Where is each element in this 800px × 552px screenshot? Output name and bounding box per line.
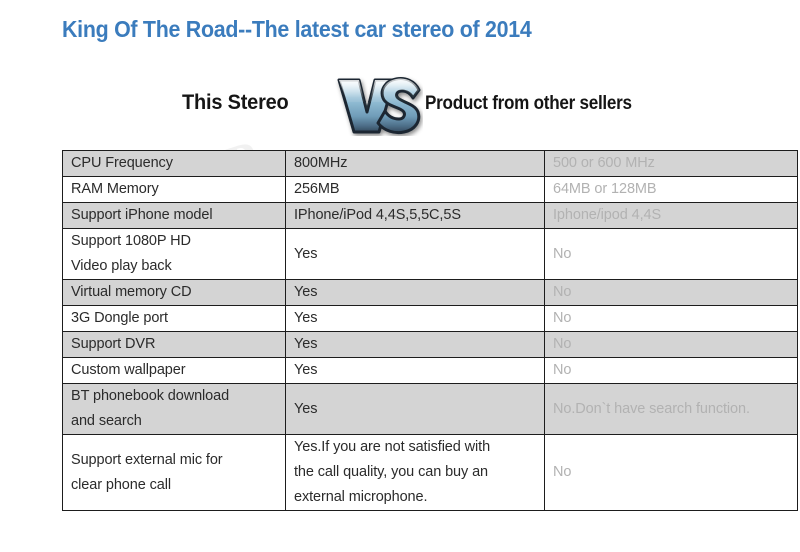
- feature-cell: BT phonebook download and search: [63, 384, 286, 435]
- theirs-value: No: [553, 358, 789, 383]
- theirs-value: No: [553, 280, 789, 305]
- theirs-cell: No: [545, 435, 798, 511]
- table-row: RAM Memory 256MB 64MB or 128MB: [63, 177, 798, 203]
- feature-label: RAM Memory: [71, 177, 277, 202]
- feature-label: Custom wallpaper: [71, 358, 277, 383]
- feature-cell: 3G Dongle port: [63, 306, 286, 332]
- ours-cell: Yes: [286, 229, 545, 280]
- feature-label: 3G Dongle port: [71, 306, 277, 331]
- ours-cell: Yes: [286, 306, 545, 332]
- feature-cell: Support DVR: [63, 332, 286, 358]
- table-row: Support DVR Yes No: [63, 332, 798, 358]
- comparison-header: This Stereo: [62, 76, 748, 134]
- feature-cell: Virtual memory CD: [63, 280, 286, 306]
- feature-label: Support DVR: [71, 332, 277, 357]
- table-row: 3G Dongle port Yes No: [63, 306, 798, 332]
- feature-label: Support external mic for: [71, 448, 277, 473]
- theirs-cell: No: [545, 229, 798, 280]
- feature-label-line2: and search: [71, 409, 277, 434]
- theirs-cell: Iphone/ipod 4,4S: [545, 203, 798, 229]
- theirs-value: No: [553, 306, 789, 331]
- feature-label: Support iPhone model: [71, 203, 277, 228]
- ours-cell: Yes: [286, 280, 545, 306]
- table-row: Custom wallpaper Yes No: [63, 358, 798, 384]
- ours-value: 800MHz: [294, 151, 536, 176]
- ours-cell: Yes: [286, 332, 545, 358]
- theirs-cell: No.Don`t have search function.: [545, 384, 798, 435]
- ours-value: Yes: [294, 306, 536, 331]
- feature-label-line2: clear phone call: [71, 473, 277, 498]
- table-row: Support external mic for clear phone cal…: [63, 435, 798, 511]
- ours-value-line3: external microphone.: [294, 485, 536, 510]
- ours-value: Yes: [294, 242, 536, 267]
- theirs-value: No: [553, 332, 789, 357]
- theirs-value: 500 or 600 MHz: [553, 151, 789, 176]
- ours-cell: 800MHz: [286, 151, 545, 177]
- feature-label: Support 1080P HD: [71, 229, 277, 254]
- ours-cell: Yes.If you are not satisfied with the ca…: [286, 435, 545, 511]
- theirs-cell: 500 or 600 MHz: [545, 151, 798, 177]
- comparison-table: CPU Frequency 800MHz 500 or 600 MHz RAM …: [62, 150, 798, 511]
- theirs-value: Iphone/ipod 4,4S: [553, 203, 789, 228]
- feature-cell: Custom wallpaper: [63, 358, 286, 384]
- ours-value: Yes: [294, 332, 536, 357]
- table-row: Support 1080P HD Video play back Yes No: [63, 229, 798, 280]
- feature-label: Virtual memory CD: [71, 280, 277, 305]
- feature-cell: Support iPhone model: [63, 203, 286, 229]
- table-row: BT phonebook download and search Yes No.…: [63, 384, 798, 435]
- theirs-value: 64MB or 128MB: [553, 177, 789, 202]
- ours-cell: Yes: [286, 384, 545, 435]
- feature-cell: Support 1080P HD Video play back: [63, 229, 286, 280]
- table-row: Virtual memory CD Yes No: [63, 280, 798, 306]
- theirs-cell: No: [545, 306, 798, 332]
- ours-value: Yes: [294, 358, 536, 383]
- this-stereo-label: This Stereo: [182, 91, 289, 115]
- theirs-value: No: [553, 242, 789, 267]
- theirs-value: No.Don`t have search function.: [553, 397, 789, 422]
- ours-value: Yes.If you are not satisfied with: [294, 435, 536, 460]
- ours-value-line2: the call quality, you can buy an: [294, 460, 536, 485]
- vs-badge-icon: [335, 74, 423, 136]
- feature-label-line2: Video play back: [71, 254, 277, 279]
- ours-cell: Yes: [286, 358, 545, 384]
- table-row: CPU Frequency 800MHz 500 or 600 MHz: [63, 151, 798, 177]
- table-body: CPU Frequency 800MHz 500 or 600 MHz RAM …: [63, 151, 798, 511]
- ours-value: IPhone/iPod 4,4S,5,5C,5S: [294, 203, 536, 228]
- feature-cell: CPU Frequency: [63, 151, 286, 177]
- ours-cell: IPhone/iPod 4,4S,5,5C,5S: [286, 203, 545, 229]
- theirs-cell: 64MB or 128MB: [545, 177, 798, 203]
- ours-value: Yes: [294, 280, 536, 305]
- feature-cell: Support external mic for clear phone cal…: [63, 435, 286, 511]
- feature-label: CPU Frequency: [71, 151, 277, 176]
- theirs-cell: No: [545, 332, 798, 358]
- page-title: King Of The Road--The latest car stereo …: [62, 16, 531, 43]
- ours-value: Yes: [294, 397, 536, 422]
- table-row: Support iPhone model IPhone/iPod 4,4S,5,…: [63, 203, 798, 229]
- ours-cell: 256MB: [286, 177, 545, 203]
- theirs-cell: No: [545, 358, 798, 384]
- ours-value: 256MB: [294, 177, 536, 202]
- feature-label: BT phonebook download: [71, 384, 277, 409]
- other-sellers-label: Product from other sellers: [425, 93, 632, 115]
- feature-cell: RAM Memory: [63, 177, 286, 203]
- theirs-cell: No: [545, 280, 798, 306]
- theirs-value: No: [553, 460, 789, 485]
